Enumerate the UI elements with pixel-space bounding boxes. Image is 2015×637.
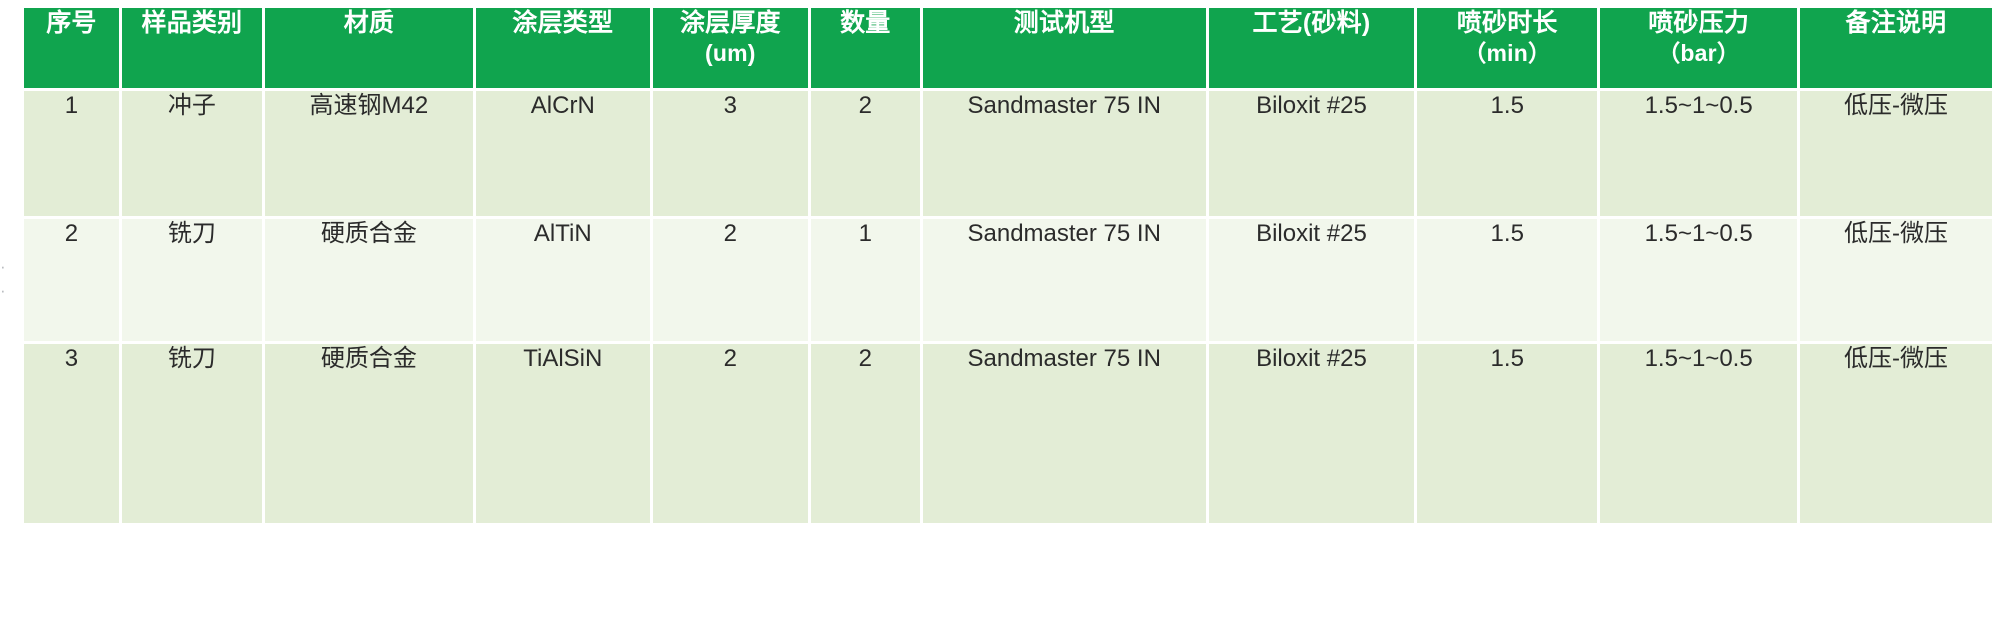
cell-index[interactable]: 1: [24, 91, 122, 219]
cell-quantity[interactable]: 2: [811, 91, 923, 219]
column-header-quantity-label: 数量: [840, 9, 890, 37]
sample-blasting-parameter-table: 序号 样品类别 材质 涂层类型 涂层厚度 (um) 数量: [24, 8, 1992, 526]
spreadsheet-canvas: · · 序号 样品类别 材质 涂层类型 涂层厚度: [0, 0, 2015, 637]
cell-test-machine[interactable]: Sandmaster 75 IN: [923, 219, 1209, 344]
cell-coating-type[interactable]: AlTiN: [476, 219, 653, 344]
cell-sample-type[interactable]: 冲子: [122, 91, 265, 219]
column-header-coating-type-label: 涂层类型: [512, 9, 613, 37]
cell-blast-pressure[interactable]: 1.5~1~0.5: [1600, 344, 1800, 526]
column-header-sample-type[interactable]: 样品类别: [122, 8, 265, 91]
column-header-test-machine-label: 测试机型: [1014, 9, 1115, 37]
column-header-remark-label: 备注说明: [1846, 9, 1947, 37]
cell-blast-pressure[interactable]: 1.5~1~0.5: [1600, 219, 1800, 344]
cell-sample-type[interactable]: 铣刀: [122, 219, 265, 344]
cell-blast-time[interactable]: 1.5: [1417, 219, 1600, 344]
table-body: 1 冲子 高速钢M42 AlCrN 3 2 Sandmaster 75 IN B…: [24, 91, 1992, 526]
edge-text-fragment-1: ·: [0, 258, 8, 275]
cell-coating-type[interactable]: TiAlSiN: [476, 344, 653, 526]
column-header-material-label: 材质: [344, 9, 394, 37]
header-row: 序号 样品类别 材质 涂层类型 涂层厚度 (um) 数量: [24, 8, 1992, 91]
cell-coating-thickness[interactable]: 3: [653, 91, 811, 219]
cell-coating-thickness[interactable]: 2: [653, 219, 811, 344]
column-header-coating-thickness-label: 涂层厚度: [680, 9, 781, 37]
cell-process-media[interactable]: Biloxit #25: [1209, 344, 1417, 526]
column-header-index[interactable]: 序号: [24, 8, 122, 91]
column-header-coating-thickness[interactable]: 涂层厚度 (um): [653, 8, 811, 91]
column-header-index-label: 序号: [46, 9, 96, 37]
cell-sample-type[interactable]: 铣刀: [122, 344, 265, 526]
column-header-sample-type-label: 样品类别: [142, 9, 243, 37]
column-header-process-media-label: 工艺(砂料): [1253, 9, 1371, 37]
table-row[interactable]: 1 冲子 高速钢M42 AlCrN 3 2 Sandmaster 75 IN B…: [24, 91, 1992, 219]
cell-remark[interactable]: 低压-微压: [1800, 219, 1992, 344]
cell-index[interactable]: 3: [24, 344, 122, 526]
table-row[interactable]: 3 铣刀 硬质合金 TiAlSiN 2 2 Sandmaster 75 IN B…: [24, 344, 1992, 526]
column-header-blast-pressure-unit: （bar）: [1600, 39, 1797, 68]
column-header-coating-type[interactable]: 涂层类型: [476, 8, 653, 91]
column-header-blast-time-unit: （min）: [1417, 39, 1597, 68]
cell-process-media[interactable]: Biloxit #25: [1209, 91, 1417, 219]
column-header-blast-time[interactable]: 喷砂时长 （min）: [1417, 8, 1600, 91]
column-header-test-machine[interactable]: 测试机型: [923, 8, 1209, 91]
cell-blast-time[interactable]: 1.5: [1417, 344, 1600, 526]
column-header-coating-thickness-unit: (um): [653, 39, 808, 68]
cell-remark[interactable]: 低压-微压: [1800, 91, 1992, 219]
cell-remark[interactable]: 低压-微压: [1800, 344, 1992, 526]
cell-material[interactable]: 硬质合金: [265, 219, 476, 344]
cell-material[interactable]: 硬质合金: [265, 344, 476, 526]
column-header-material[interactable]: 材质: [265, 8, 476, 91]
edge-text-fragment-2: ·: [0, 282, 8, 299]
cell-process-media[interactable]: Biloxit #25: [1209, 219, 1417, 344]
table-header: 序号 样品类别 材质 涂层类型 涂层厚度 (um) 数量: [24, 8, 1992, 91]
column-header-process-media[interactable]: 工艺(砂料): [1209, 8, 1417, 91]
column-header-blast-pressure[interactable]: 喷砂压力 （bar）: [1600, 8, 1800, 91]
cell-coating-type[interactable]: AlCrN: [476, 91, 653, 219]
cell-material[interactable]: 高速钢M42: [265, 91, 476, 219]
cell-index[interactable]: 2: [24, 219, 122, 344]
cell-blast-pressure[interactable]: 1.5~1~0.5: [1600, 91, 1800, 219]
cell-coating-thickness[interactable]: 2: [653, 344, 811, 526]
table-row[interactable]: 2 铣刀 硬质合金 AlTiN 2 1 Sandmaster 75 IN Bil…: [24, 219, 1992, 344]
cell-test-machine[interactable]: Sandmaster 75 IN: [923, 91, 1209, 219]
cell-quantity[interactable]: 2: [811, 344, 923, 526]
column-header-blast-time-label: 喷砂时长: [1457, 9, 1558, 37]
column-header-remark[interactable]: 备注说明: [1800, 8, 1992, 91]
cell-test-machine[interactable]: Sandmaster 75 IN: [923, 344, 1209, 526]
column-header-quantity[interactable]: 数量: [811, 8, 923, 91]
cell-quantity[interactable]: 1: [811, 219, 923, 344]
cell-blast-time[interactable]: 1.5: [1417, 91, 1600, 219]
column-header-blast-pressure-label: 喷砂压力: [1648, 9, 1749, 37]
